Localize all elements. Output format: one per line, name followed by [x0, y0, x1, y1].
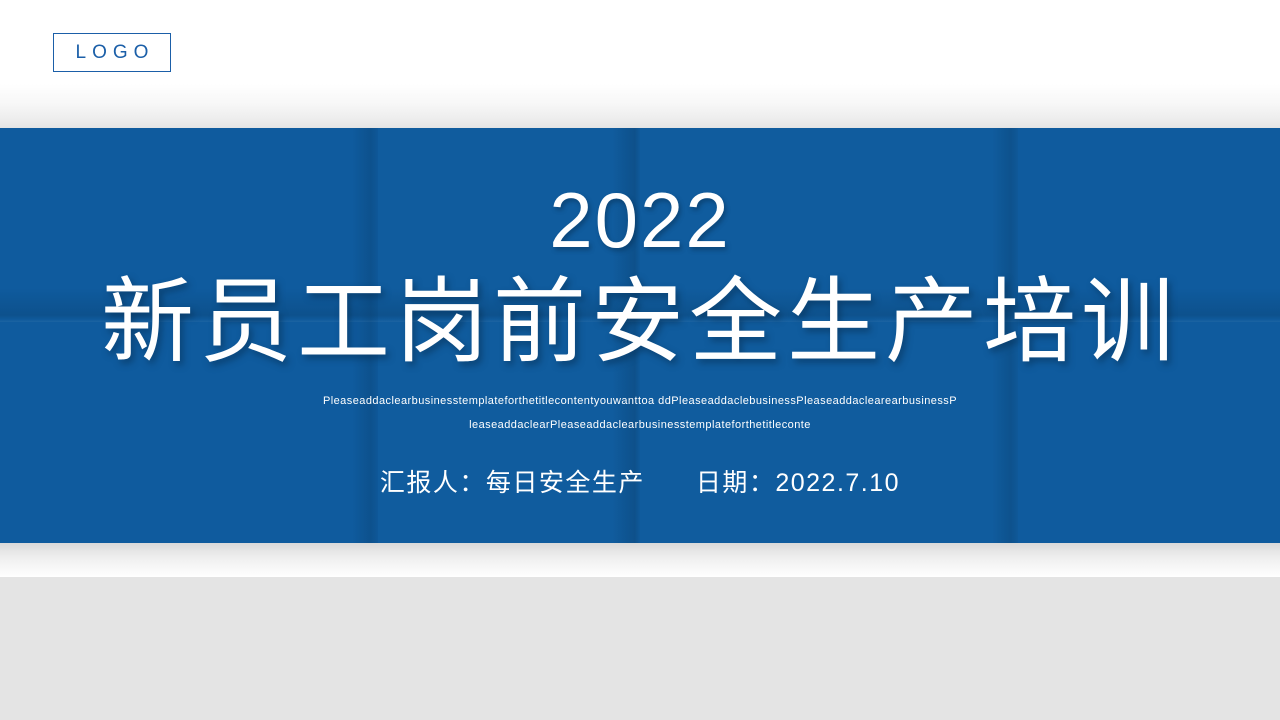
subtitle-block: Pleaseaddaclearbusinesstemplateforthetit…	[0, 389, 1280, 437]
slide-background: LOGO 2022 新员工岗前安全生产培训 Pleaseaddaclearbus…	[0, 0, 1280, 720]
year-label: 2022	[0, 181, 1280, 259]
banner-content: 2022 新员工岗前安全生产培训 Pleaseaddaclearbusiness…	[0, 128, 1280, 543]
presenter-label: 汇报人：每日安全生产	[380, 469, 645, 497]
title-banner: 2022 新员工岗前安全生产培训 Pleaseaddaclearbusiness…	[0, 128, 1280, 543]
subtitle-line-1: Pleaseaddaclearbusinesstemplateforthetit…	[0, 389, 1280, 413]
band-drop-shadow	[0, 543, 1280, 577]
date-label: 日期：2022.7.10	[696, 469, 900, 497]
logo-text: LOGO	[70, 43, 155, 62]
logo-badge[interactable]: LOGO	[53, 33, 171, 72]
meta-row: 汇报人：每日安全生产 日期：2022.7.10	[0, 463, 1280, 499]
page-title: 新员工岗前安全生产培训	[0, 276, 1280, 369]
subtitle-line-2: leaseaddaclearPleaseaddaclearbusinesstem…	[0, 413, 1280, 437]
